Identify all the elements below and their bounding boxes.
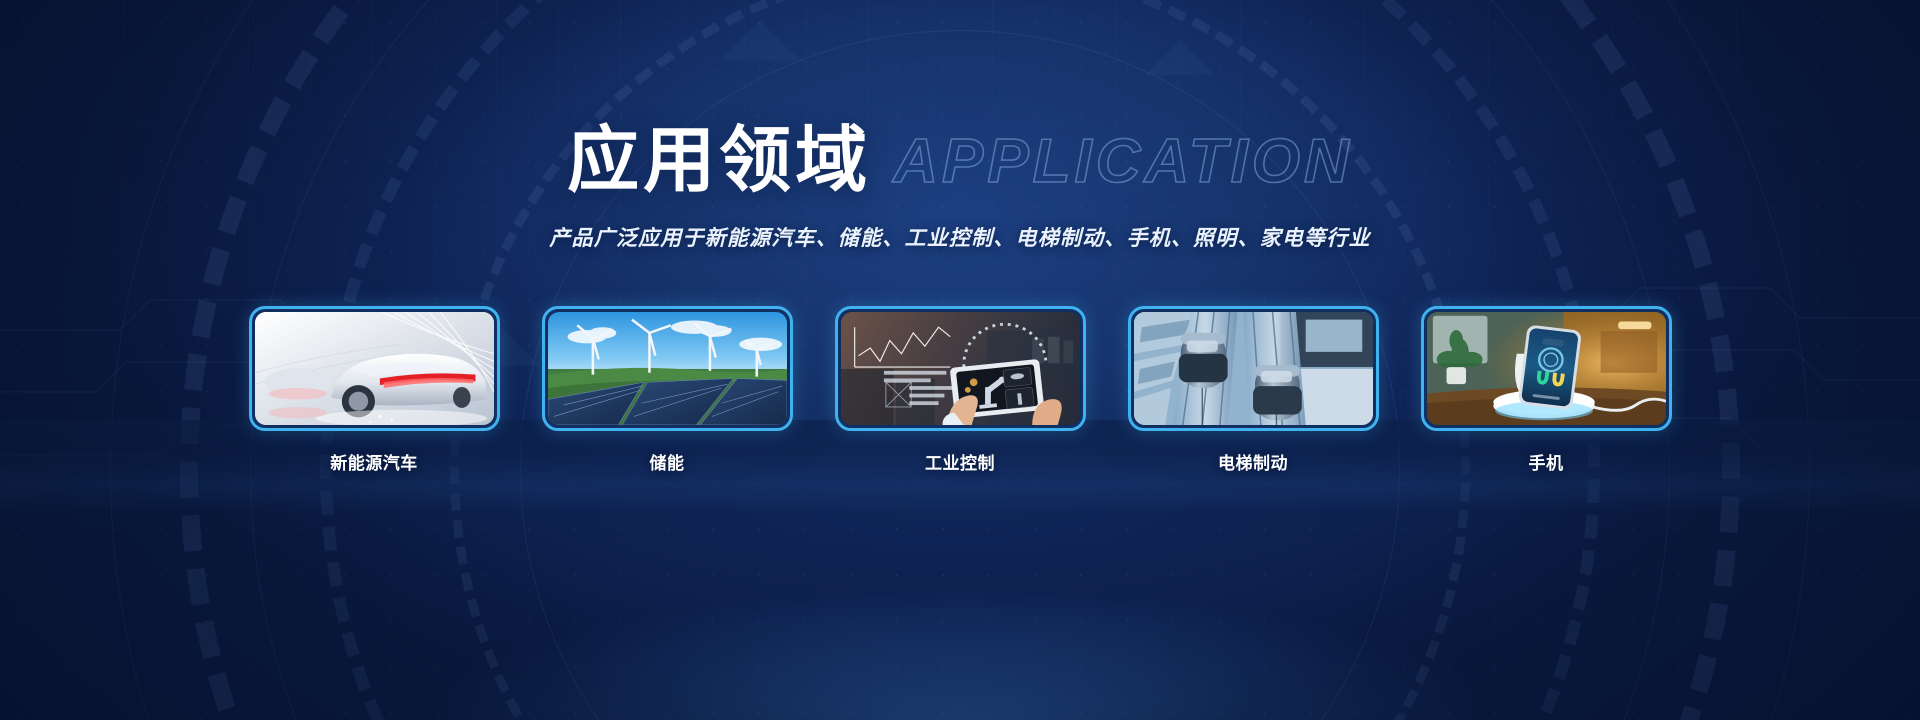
card-frame[interactable] xyxy=(835,306,1086,431)
application-card-list: 新能源汽车 xyxy=(0,306,1920,474)
application-card-energy-storage[interactable]: 储能 xyxy=(542,306,793,474)
card-frame[interactable] xyxy=(542,306,793,431)
application-card-elevator-brake[interactable]: 电梯制动 xyxy=(1128,306,1379,474)
card-label: 新能源汽车 xyxy=(249,449,500,474)
page-subtitle: 产品广泛应用于新能源汽车、储能、工业控制、电梯制动、手机、照明、家电等行业 xyxy=(0,222,1920,252)
page-title-row: 应用领域 APPLICATION xyxy=(0,124,1920,196)
application-card-new-energy-vehicle[interactable]: 新能源汽车 xyxy=(249,306,500,474)
card-thumbnail-solar-wind xyxy=(548,312,787,425)
card-frame[interactable] xyxy=(1421,306,1672,431)
application-card-mobile-phone[interactable]: 手机 xyxy=(1421,306,1672,474)
card-thumbnail-car xyxy=(255,312,494,425)
card-frame[interactable] xyxy=(1128,306,1379,431)
page-title-en: APPLICATION xyxy=(893,131,1353,193)
card-label: 储能 xyxy=(542,449,793,474)
card-label: 手机 xyxy=(1421,449,1672,474)
card-label: 工业控制 xyxy=(835,449,1086,474)
card-label: 电梯制动 xyxy=(1128,449,1379,474)
application-card-industrial-control[interactable]: 工业控制 xyxy=(835,306,1086,474)
card-frame[interactable] xyxy=(249,306,500,431)
card-thumbnail-elevator xyxy=(1134,312,1373,425)
page-title-cn: 应用领域 xyxy=(567,124,871,196)
card-thumbnail-phone xyxy=(1427,312,1666,425)
card-thumbnail-industrial xyxy=(841,312,1080,425)
